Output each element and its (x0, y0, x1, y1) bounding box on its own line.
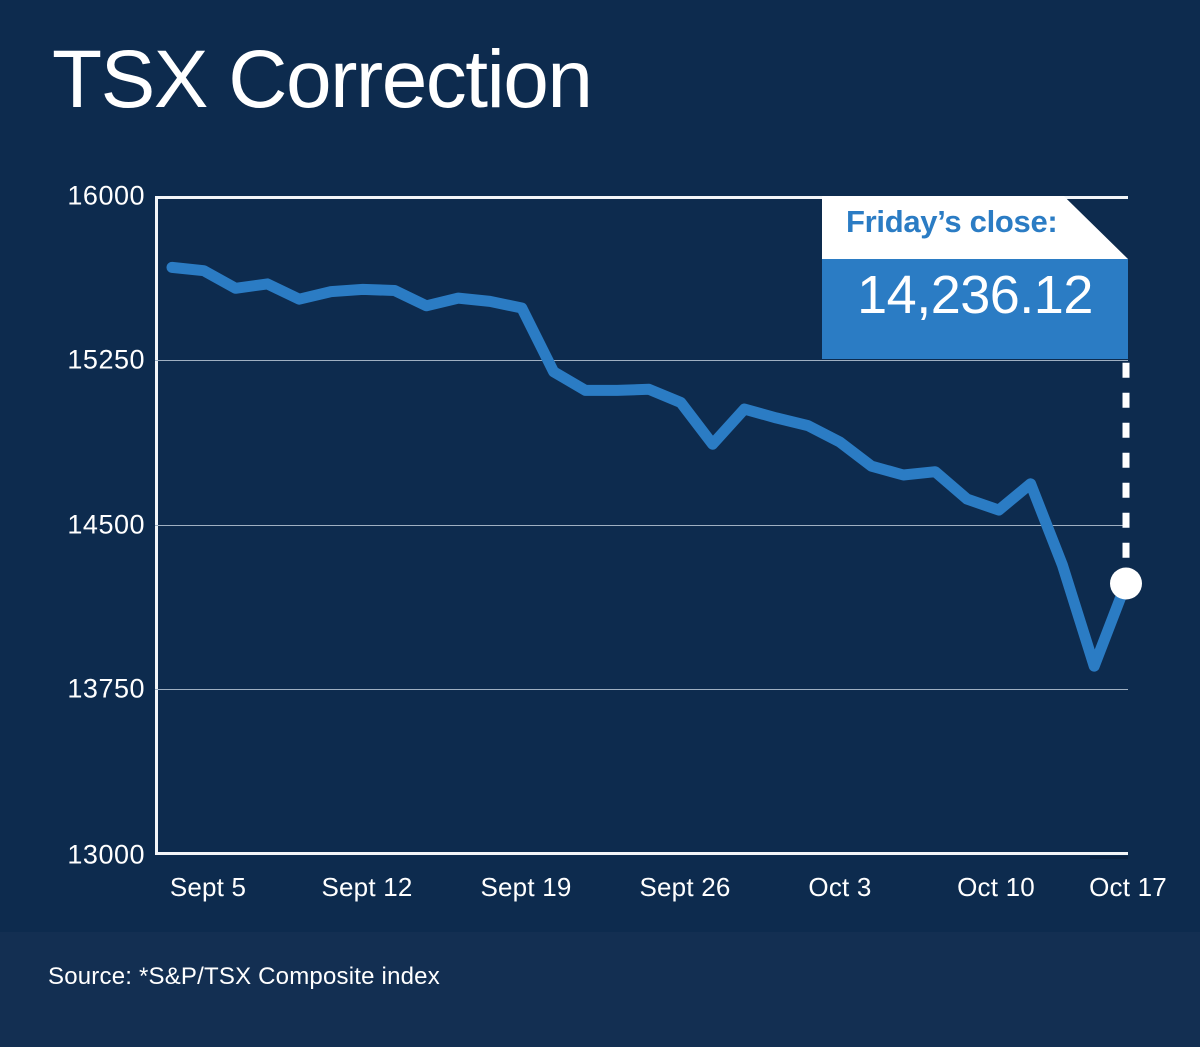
callout-friday-close: Friday’s close: 14,236.12 (822, 196, 1128, 359)
callout-label: Friday’s close: (846, 204, 1057, 240)
series-plot (0, 0, 1200, 940)
callout-value: 14,236.12 (822, 264, 1128, 326)
chart-area: 16000 15250 14500 13750 13000 Sept 5 Sep… (0, 0, 1200, 940)
infographic-root: TSX Correction 16000 15250 14500 13750 1… (0, 0, 1200, 1047)
end-point-marker (1110, 568, 1142, 600)
source-note: Source: *S&P/TSX Composite index (48, 963, 440, 991)
